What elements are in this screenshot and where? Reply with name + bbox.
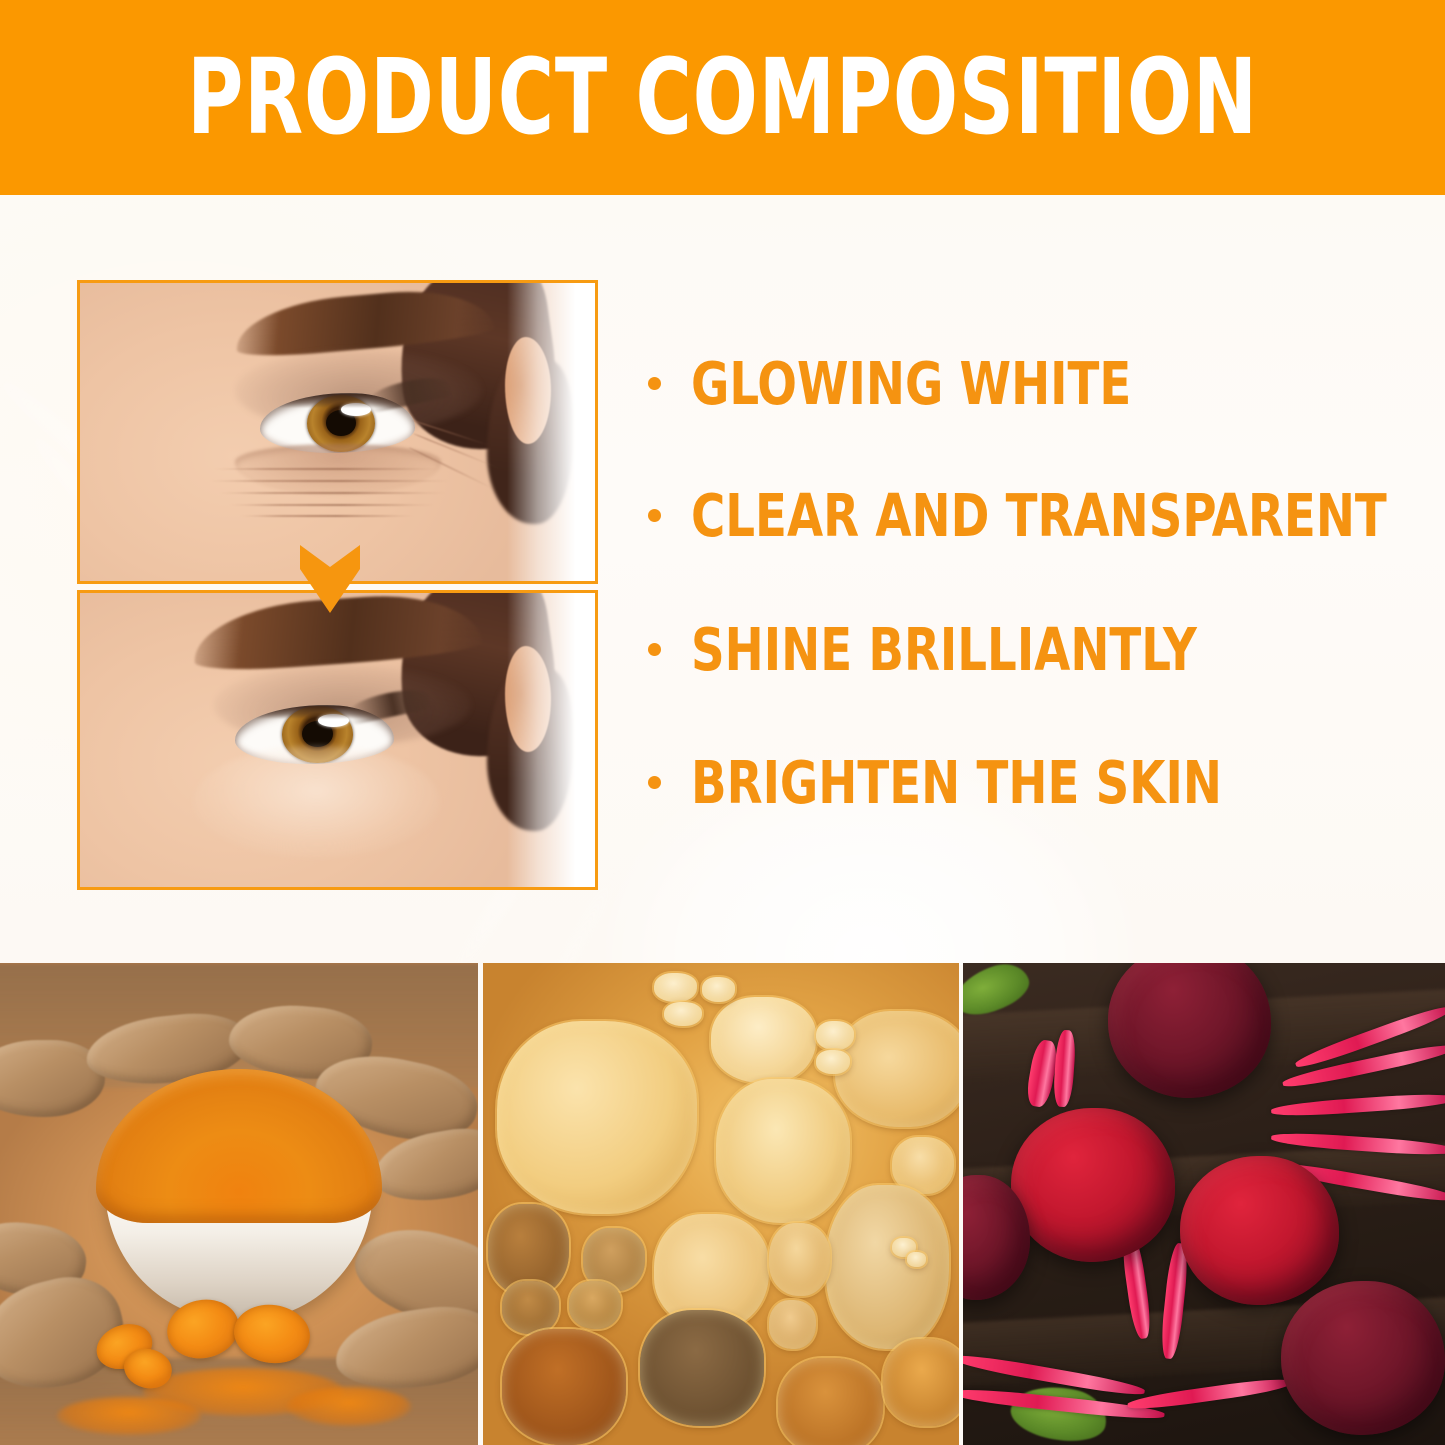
oil-bubble (502, 1329, 626, 1445)
photo-background-fade (507, 593, 595, 887)
benefits-list: GLOWING WHITE CLEAR AND TRANSPARENT SHIN… (648, 338, 1418, 858)
powder-spill (287, 1387, 411, 1426)
oil-bubble (711, 997, 816, 1084)
before-photo-frame (77, 280, 598, 584)
oil-bubble (883, 1339, 959, 1426)
benefit-label: BRIGHTEN THE SKIN (691, 753, 1222, 812)
bullet-dot-icon (648, 643, 661, 656)
benefit-item: SHINE BRILLIANTLY (648, 618, 1266, 680)
oil-bubble (769, 1223, 831, 1295)
powder-spill (57, 1397, 200, 1436)
product-composition-infographic: PRODUCT COMPOSITION (0, 0, 1445, 1445)
oil-bubble (826, 1185, 950, 1349)
benefit-label: CLEAR AND TRANSPARENT (691, 486, 1387, 545)
photo-background-fade (507, 283, 595, 581)
oil-bubble (816, 1050, 849, 1074)
after-eye-photo (80, 593, 595, 887)
before-eye-photo (80, 283, 595, 581)
oil-bubble (778, 1358, 883, 1445)
benefit-label: SHINE BRILLIANTLY (691, 620, 1197, 679)
oil-bubble (569, 1281, 621, 1329)
ingredient-photo-strip (0, 963, 1445, 1445)
oil-bubble (497, 1021, 697, 1214)
beet-root (1180, 1156, 1339, 1305)
after-photo-frame (77, 590, 598, 890)
wrinkle-line (229, 504, 435, 506)
wrinkle-line (214, 468, 441, 470)
oil-bubble (664, 1002, 702, 1026)
smooth-cheek-highlight (193, 746, 440, 858)
wrinkle-line (209, 480, 451, 482)
wrinkle-line (219, 492, 446, 494)
ingredient-panel-turmeric (0, 963, 478, 1445)
bullet-dot-icon (648, 509, 661, 522)
oil-bubble (640, 1310, 764, 1426)
oil-bubble (816, 1021, 854, 1050)
page-title: PRODUCT COMPOSITION (130, 0, 1315, 195)
benefit-item: CLEAR AND TRANSPARENT (648, 484, 1445, 546)
bullet-dot-icon (648, 377, 661, 390)
chevron-down-arrow-icon (298, 543, 362, 615)
benefit-label: GLOWING WHITE (691, 354, 1131, 413)
beet-root (1011, 1108, 1175, 1262)
benefit-item: BRIGHTEN THE SKIN (648, 751, 1294, 813)
oil-bubble (769, 1300, 817, 1348)
beet-root (1281, 1281, 1445, 1435)
oil-bubble (654, 973, 697, 1002)
benefit-item: GLOWING WHITE (648, 352, 1191, 414)
oil-bubble (835, 1011, 959, 1127)
header-bar: PRODUCT COMPOSITION (0, 0, 1445, 195)
oil-bubble (502, 1281, 559, 1334)
oil-bubble (716, 1079, 849, 1224)
ingredient-panel-beetroot (963, 963, 1445, 1445)
oil-bubble (702, 977, 735, 1001)
bullet-dot-icon (648, 776, 661, 789)
oil-bubble (907, 1252, 926, 1266)
ingredient-panel-oil (483, 963, 959, 1445)
